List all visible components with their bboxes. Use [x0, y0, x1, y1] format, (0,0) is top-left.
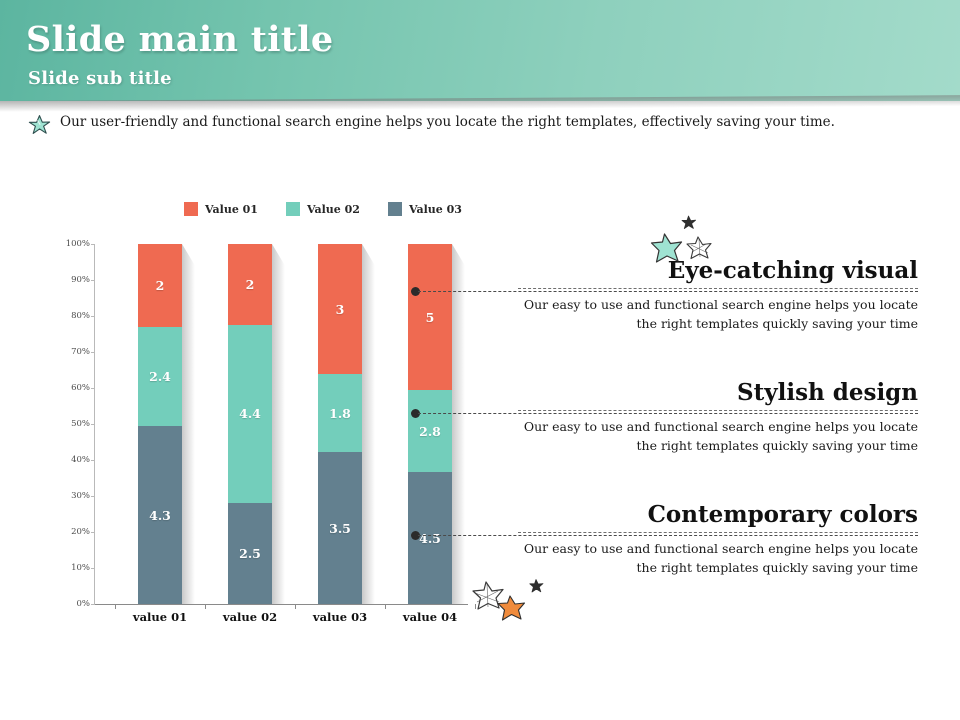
- x-axis-tick: [205, 604, 206, 609]
- x-axis-label: value 01: [115, 610, 205, 624]
- y-axis-tick: 30%: [48, 491, 90, 501]
- y-axis-tick: 80%: [48, 311, 90, 321]
- y-axis-tick: 10%: [48, 563, 90, 573]
- legend-label-value03: Value 03: [409, 203, 462, 216]
- bar-segment[interactable]: 3.5: [318, 452, 362, 604]
- bar-value-01[interactable]: 22.44.3: [138, 244, 182, 604]
- feature-block-3: Contemporary colors Our easy to use and …: [518, 502, 918, 578]
- bar-value-label: 4.3: [149, 508, 171, 523]
- bar-segment[interactable]: 2: [228, 244, 272, 325]
- x-axis-tick: [115, 604, 116, 609]
- bar-value-label: 3.5: [329, 521, 351, 536]
- bar-value-label: 5: [426, 310, 435, 325]
- bar-value-04[interactable]: 52.84.5: [408, 244, 452, 604]
- bar-value-label: 2.8: [419, 424, 441, 439]
- legend-item-value02: Value 02: [286, 202, 360, 216]
- legend-swatch-value01: [184, 202, 198, 216]
- bar-value-02[interactable]: 24.42.5: [228, 244, 272, 604]
- bar-value-label: 2: [156, 278, 165, 293]
- bar-segment[interactable]: 2: [138, 244, 182, 327]
- bar-shadow: [182, 244, 195, 604]
- feature-rule-2: [518, 410, 918, 411]
- legend-label-value02: Value 02: [307, 203, 360, 216]
- x-axis-label: value 04: [385, 610, 475, 624]
- stacked-bar-chart: 0%10%20%30%40%50%60%70%80%90%100% 22.44.…: [48, 238, 468, 610]
- feature-body-2: Our easy to use and functional search en…: [518, 418, 918, 456]
- bar-segment[interactable]: 2.4: [138, 327, 182, 426]
- feature-body-1: Our easy to use and functional search en…: [518, 296, 918, 334]
- y-axis-tick: 0%: [48, 599, 90, 609]
- bar-value-label: 2.4: [149, 369, 171, 384]
- bar-segment[interactable]: 4.3: [138, 426, 182, 604]
- feature-rule-3: [518, 532, 918, 533]
- y-axis-tick: 60%: [48, 383, 90, 393]
- bar-value-03[interactable]: 31.83.5: [318, 244, 362, 604]
- y-axis-tick: 70%: [48, 347, 90, 357]
- bar-segment[interactable]: 1.8: [318, 374, 362, 452]
- feature-rule-1: [518, 288, 918, 289]
- legend-item-value01: Value 01: [184, 202, 258, 216]
- bar-shadow: [272, 244, 285, 604]
- chart-legend: Value 01 Value 02 Value 03: [184, 202, 462, 216]
- legend-label-value01: Value 01: [205, 203, 258, 216]
- lead-text: Our user-friendly and functional search …: [60, 114, 835, 130]
- plot-area: 22.44.324.42.531.83.552.84.5: [95, 244, 468, 604]
- y-axis-tick: 50%: [48, 419, 90, 429]
- bar-value-label: 2: [246, 277, 255, 292]
- x-axis-label: value 02: [205, 610, 295, 624]
- star-cluster-top: [644, 212, 724, 273]
- legend-swatch-value02: [286, 202, 300, 216]
- y-axis-tick: 20%: [48, 527, 90, 537]
- x-axis-tick: [385, 604, 386, 609]
- bar-segment[interactable]: 2.5: [228, 503, 272, 604]
- bar-value-label: 1.8: [329, 406, 351, 421]
- bar-segment[interactable]: 5: [408, 244, 452, 390]
- lead-row: Our user-friendly and functional search …: [28, 112, 928, 138]
- legend-swatch-value03: [388, 202, 402, 216]
- x-axis-line: [94, 604, 468, 605]
- bar-segment[interactable]: 2.8: [408, 390, 452, 472]
- star-cluster-bottom: [468, 577, 552, 634]
- bar-shadow: [362, 244, 375, 604]
- page-subtitle: Slide sub title: [28, 68, 172, 89]
- slide-header: Slide main title Slide sub title: [0, 0, 960, 101]
- bar-value-label: 4.5: [419, 531, 441, 546]
- legend-item-value03: Value 03: [388, 202, 462, 216]
- bar-value-label: 3: [336, 302, 345, 317]
- feature-title-3: Contemporary colors: [518, 502, 918, 527]
- y-axis-tick: 100%: [48, 239, 90, 249]
- page-title: Slide main title: [26, 19, 333, 60]
- x-axis-label: value 03: [295, 610, 385, 624]
- bar-shadow: [452, 244, 465, 604]
- bar-segment[interactable]: 3: [318, 244, 362, 374]
- bar-segment[interactable]: 4.4: [228, 325, 272, 503]
- feature-body-3: Our easy to use and functional search en…: [518, 540, 918, 578]
- y-axis-tick: 40%: [48, 455, 90, 465]
- feature-title-2: Stylish design: [518, 380, 918, 405]
- bar-value-label: 4.4: [239, 406, 261, 421]
- x-axis-tick: [295, 604, 296, 609]
- y-axis-tick: 90%: [48, 275, 90, 285]
- feature-block-2: Stylish design Our easy to use and funct…: [518, 380, 918, 456]
- star-icon: [28, 114, 52, 136]
- bar-value-label: 2.5: [239, 546, 261, 561]
